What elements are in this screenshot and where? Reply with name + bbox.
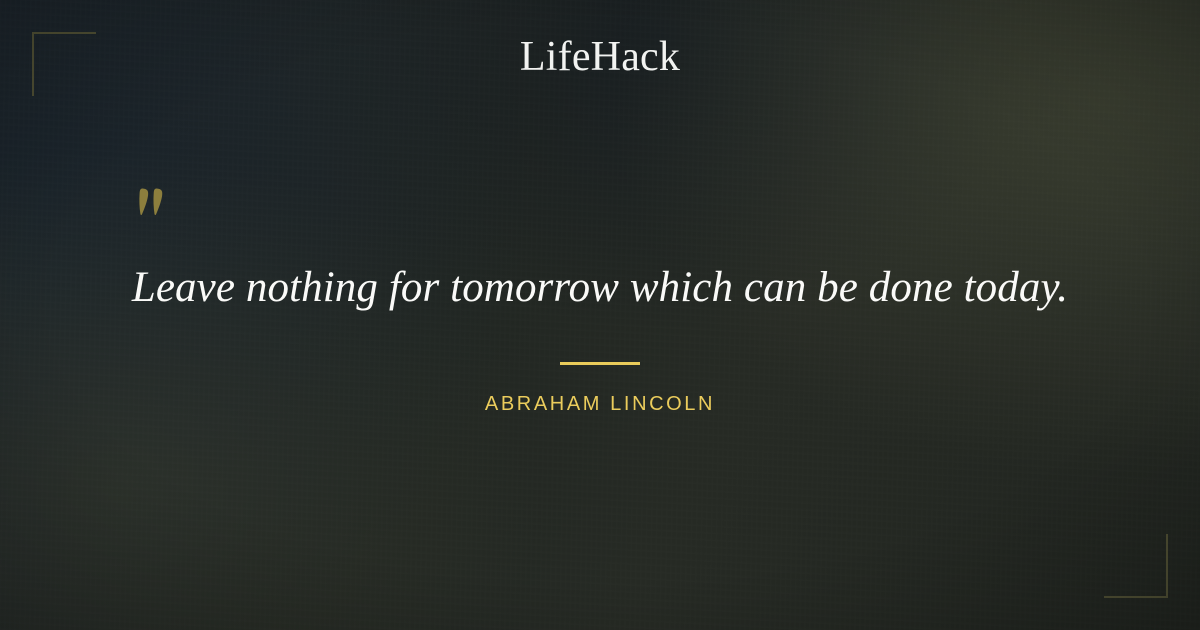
quote-text: Leave nothing for tomorrow which can be … <box>0 262 1200 314</box>
gold-divider <box>560 362 640 365</box>
background-texture <box>0 0 1200 630</box>
brand-logo: LifeHack <box>0 36 1200 78</box>
quote-author: ABRAHAM LINCOLN <box>0 393 1200 416</box>
quotation-mark-icon <box>134 186 180 232</box>
quote-block: Leave nothing for tomorrow which can be … <box>0 186 1200 264</box>
vignette-overlay <box>0 0 1200 630</box>
corner-bracket-bottom-right-icon <box>1104 534 1168 598</box>
quote-card: LifeHack Leave nothing for tomorrow whic… <box>0 0 1200 630</box>
